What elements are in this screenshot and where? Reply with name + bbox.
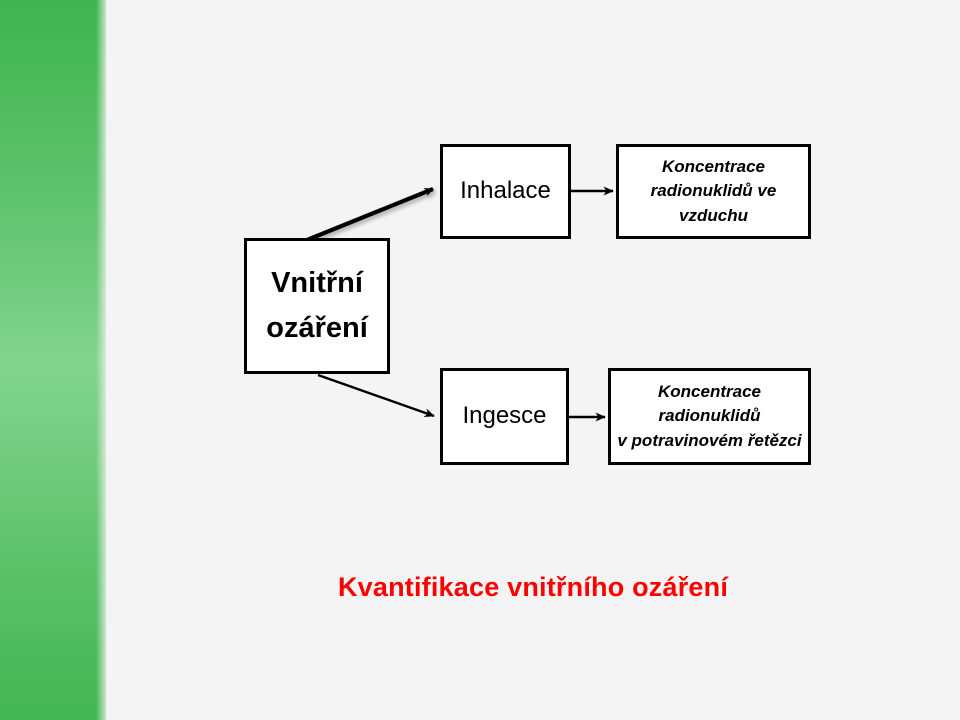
edge-source-to-inhalace [307,189,433,240]
green-gradient-band [0,0,106,720]
slide-caption: Kvantifikace vnitřního ozáření [106,572,960,603]
node-label: Inhalace [460,176,551,207]
arrow-layer [0,0,960,720]
node-label: Koncentrace radionuklidů ve vzduchu [651,155,777,227]
node-label: Koncentrace radionuklidů v potravinovém … [617,380,801,452]
slide-canvas: Vnitřní ozáření Inhalace Ingesce Koncent… [0,0,960,720]
node-ingesce[interactable]: Ingesce [440,368,569,465]
node-vnitrni-ozareni[interactable]: Vnitřní ozáření [244,238,390,374]
node-label: Ingesce [462,401,546,432]
node-air-concentration[interactable]: Koncentrace radionuklidů ve vzduchu [616,144,811,239]
node-food-concentration[interactable]: Koncentrace radionuklidů v potravinovém … [608,368,811,465]
node-label: Vnitřní ozáření [266,261,368,351]
node-inhalace[interactable]: Inhalace [440,144,571,239]
edge-source-to-ingesce [318,375,434,416]
